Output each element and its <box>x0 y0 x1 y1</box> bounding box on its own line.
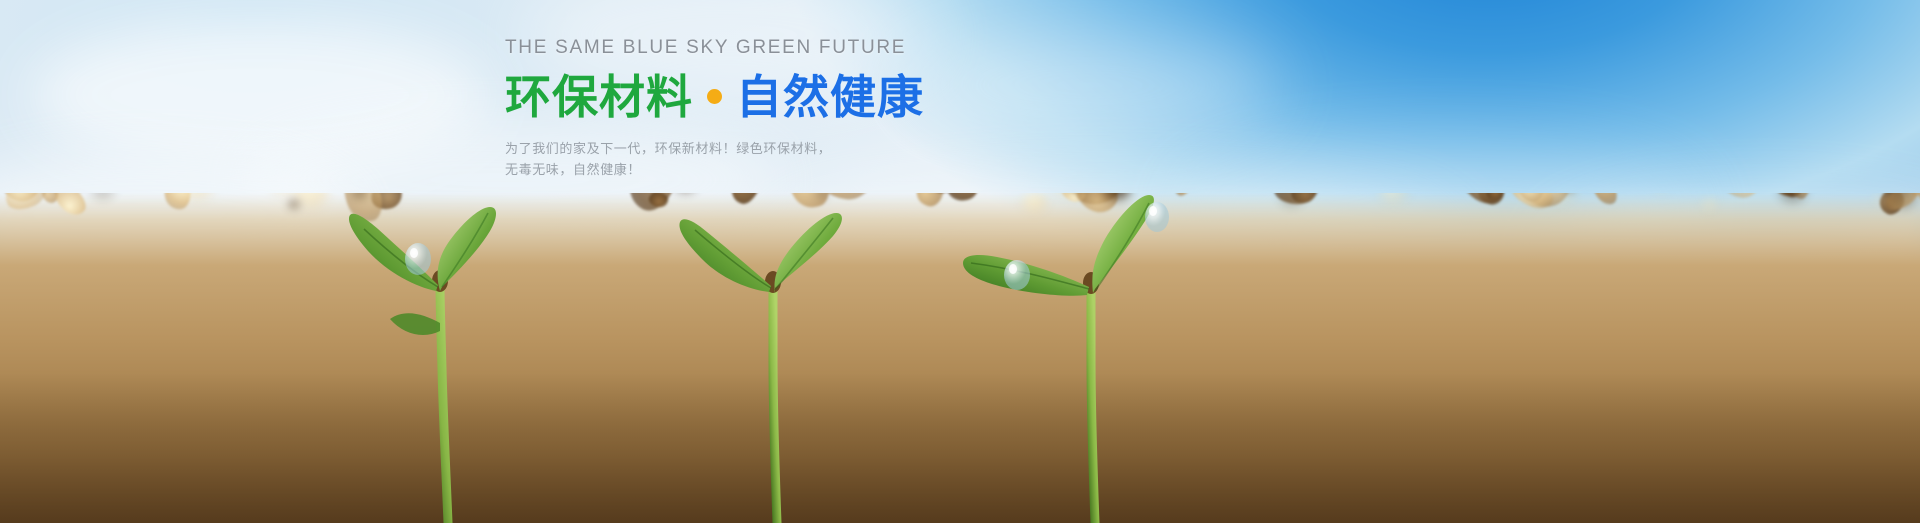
hero-banner: THE SAME BLUE SKY GREEN FUTURE 环保材料自然健康 … <box>0 0 1920 523</box>
sprout-right <box>945 183 1235 523</box>
sprout-center <box>665 178 895 523</box>
soil-clump <box>1 193 51 215</box>
soil-shadow <box>286 199 302 210</box>
headline-green-text: 环保材料 <box>505 70 693 124</box>
soil-shadow <box>1277 193 1306 208</box>
soil-clump <box>49 193 91 220</box>
sprout-center-icon <box>665 178 895 523</box>
soil-highlight <box>1704 200 1716 209</box>
soil-shadow <box>88 193 118 201</box>
sprout-left <box>330 173 560 523</box>
banner-subtitle: 为了我们的家及下一代，环保新材料！绿色环保材料， 无毒无味，自然健康！ <box>505 139 965 181</box>
soil-highlight <box>1380 193 1410 203</box>
dew-drop <box>1145 202 1169 232</box>
soil-clump <box>1447 193 1511 212</box>
banner-headline: 环保材料自然健康 <box>505 69 965 125</box>
soil-shadow <box>1776 193 1809 204</box>
dot-separator-icon <box>707 89 722 104</box>
cloud-wisp <box>30 20 490 170</box>
soil-clump <box>1585 193 1621 209</box>
banner-copy: THE SAME BLUE SKY GREEN FUTURE 环保材料自然健康 … <box>505 38 965 181</box>
headline-blue-text: 自然健康 <box>736 70 924 124</box>
subtitle-line: 为了我们的家及下一代，环保新材料！绿色环保材料， <box>505 139 965 160</box>
sprout-left-icon <box>330 173 560 523</box>
sprout-right-icon <box>945 183 1235 523</box>
dew-drop <box>1004 260 1030 290</box>
banner-tagline: THE SAME BLUE SKY GREEN FUTURE <box>505 38 965 59</box>
soil-clump <box>1715 193 1769 200</box>
dew-drop <box>405 243 431 275</box>
subtitle-line: 无毒无味，自然健康！ <box>505 160 965 181</box>
soil-clump <box>914 193 947 209</box>
